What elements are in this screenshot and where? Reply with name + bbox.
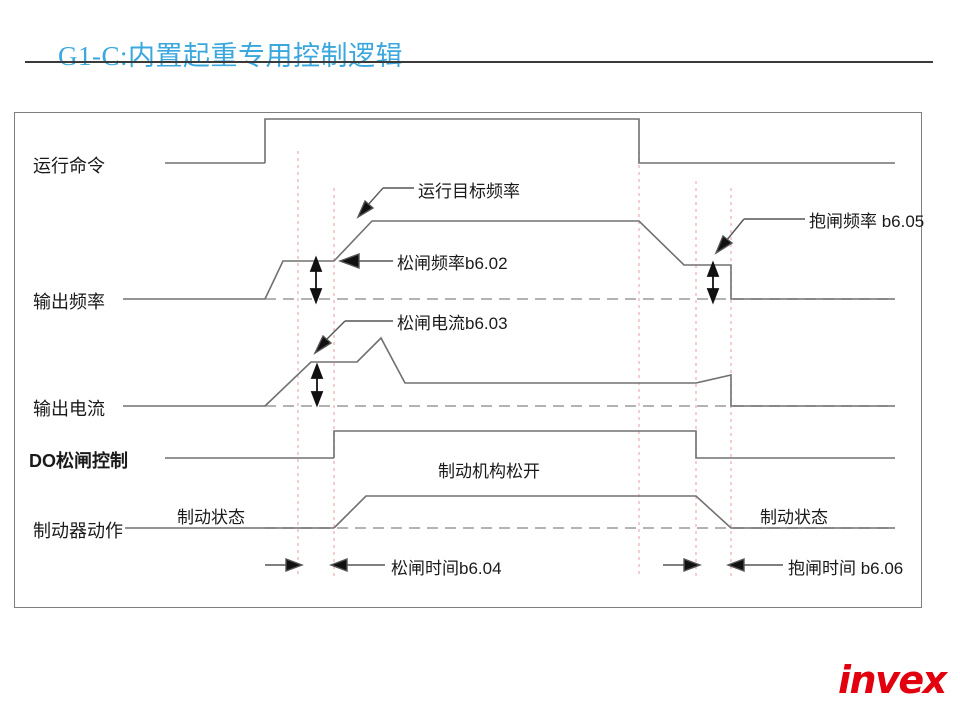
baselines xyxy=(265,299,895,528)
slide-canvas: G1-C:内置起重专用控制逻辑 xyxy=(0,0,960,720)
frequency-release-arrow xyxy=(311,258,321,302)
row-label-brake-action: 制动器动作 xyxy=(33,517,123,543)
annotation-brake-state-right: 制动状态 xyxy=(760,503,828,528)
waveform-run-command xyxy=(165,119,895,163)
annotation-brake-release-current: 松闸电流b6.03 xyxy=(397,309,508,334)
row-label-output-frequency: 输出频率 xyxy=(33,288,105,314)
row-label-output-current: 输出电流 xyxy=(33,395,105,421)
waveform-output-frequency xyxy=(123,221,895,299)
invex-logo-text: invex xyxy=(838,660,946,700)
annotation-brake-apply-frequency: 抱闸频率 b6.05 xyxy=(809,207,924,232)
annotation-target-frequency: 运行目标频率 xyxy=(418,177,520,202)
waveform-output-current xyxy=(123,338,895,406)
annotation-brake-release-frequency: 松闸频率b6.02 xyxy=(397,249,508,274)
current-release-arrow xyxy=(312,365,322,405)
guide-lines xyxy=(298,151,731,577)
annotation-brake-release-time: 松闸时间b6.04 xyxy=(391,554,502,579)
invex-logo: invex xyxy=(838,660,944,700)
timing-diagram-frame: 运行命令 输出频率 输出电流 DO松闸控制 制动器动作 运行目标频率 松闸频率b… xyxy=(14,112,922,608)
annotation-brake-apply-time: 抱闸时间 b6.06 xyxy=(788,554,903,579)
leader-brake-apply-frequency xyxy=(716,219,805,253)
title-underline-divider xyxy=(25,61,933,63)
leader-target-frequency xyxy=(358,188,414,217)
title-bar: G1-C:内置起重专用控制逻辑 xyxy=(0,16,960,66)
row-label-do-brake-release-control: DO松闸控制 xyxy=(29,447,128,473)
frequency-apply-arrow xyxy=(708,263,718,302)
time-arrows xyxy=(265,559,783,571)
annotation-brake-state-left: 制动状态 xyxy=(177,503,245,528)
annotation-brake-mechanism-released: 制动机构松开 xyxy=(438,457,540,482)
waveform-do-brake-release-control xyxy=(165,431,895,458)
leader-brake-release-frequency xyxy=(340,254,393,268)
page-title: G1-C:内置起重专用控制逻辑 xyxy=(58,34,403,73)
row-label-run-command: 运行命令 xyxy=(33,152,105,178)
